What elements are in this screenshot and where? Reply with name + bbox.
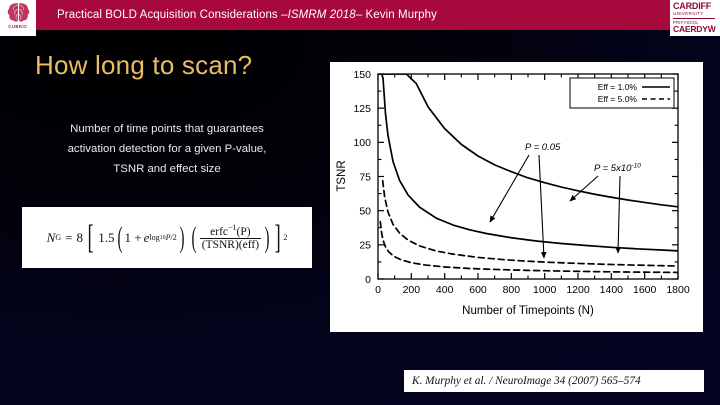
header-title: Practical BOLD Acquisition Consideration… bbox=[57, 0, 437, 30]
eq-frac-denominator: (TSNR)(eff) bbox=[200, 238, 261, 251]
equation-ng: NG = 8 [ 1.5 ( 1 + elog10P/2 ) ( erfc−1(… bbox=[47, 224, 288, 251]
eq-lhs-sub: G bbox=[55, 233, 61, 242]
body-line-1: Number of time points that guarantees bbox=[22, 119, 312, 139]
formula-box: NG = 8 [ 1.5 ( 1 + elog10P/2 ) ( erfc−1(… bbox=[22, 207, 312, 268]
cardiff-line-university: UNIVERSITY bbox=[673, 11, 718, 17]
x-tick-label: 1400 bbox=[600, 284, 624, 296]
legend-label-eff-5: Eff = 5.0% bbox=[598, 94, 638, 104]
x-tick-label: 1200 bbox=[566, 284, 590, 296]
eq-coef-inner: 1.5 bbox=[98, 230, 114, 246]
eq-exp-div2: /2 bbox=[171, 233, 177, 242]
eq-coef-outer: 8 bbox=[76, 230, 83, 246]
eq-one-plus: 1 + bbox=[125, 230, 142, 246]
y-tick-label: 100 bbox=[353, 137, 371, 149]
annotation-p-0-05: P = 0.05 bbox=[525, 142, 561, 153]
y-tick-label: 25 bbox=[359, 240, 371, 252]
cardiff-line-cardiff: CARDIFF bbox=[673, 2, 718, 11]
x-tick-label: 800 bbox=[503, 284, 521, 296]
figure-panel: 020040060080010001200140016001800 025507… bbox=[330, 62, 703, 332]
x-tick-label: 1600 bbox=[633, 284, 657, 296]
eq-outer-power: 2 bbox=[283, 233, 287, 242]
page-title: How long to scan? bbox=[35, 50, 252, 81]
body-line-2: activation detection for a given P-value… bbox=[22, 139, 312, 159]
y-tick-label: 125 bbox=[353, 103, 371, 115]
x-tick-label: 200 bbox=[403, 284, 421, 296]
eq-lhs-var: N bbox=[47, 230, 56, 246]
eq-erfc: erfc bbox=[210, 226, 228, 238]
eq-frac-numerator: erfc−1(P) bbox=[208, 224, 252, 238]
cubric-wordmark: CUBRIC bbox=[8, 24, 27, 29]
y-tick-label: 75 bbox=[359, 171, 371, 183]
citation-box: K. Murphy et al. / NeuroImage 34 (2007) … bbox=[404, 370, 704, 392]
header-title-part2: – Kevin Murphy bbox=[356, 9, 437, 21]
x-tick-label: 1800 bbox=[666, 284, 690, 296]
eq-exp-log: log bbox=[149, 233, 159, 242]
x-axis-title: Number of Timepoints (N) bbox=[462, 305, 594, 317]
body-line-3: TSNR and effect size bbox=[22, 159, 312, 179]
eq-erfc-inv: −1 bbox=[228, 223, 237, 232]
cardiff-university-logo: CARDIFF UNIVERSITY PRIFYSGOL CAERDYẆ bbox=[670, 0, 720, 36]
x-tick-label: 1000 bbox=[533, 284, 557, 296]
x-tick-label: 600 bbox=[469, 284, 487, 296]
x-axis-tick-labels: 020040060080010001200140016001800 bbox=[375, 284, 690, 296]
y-tick-label: 150 bbox=[353, 69, 371, 81]
y-tick-label: 0 bbox=[365, 274, 371, 286]
annotation-p-5e-10-text: P = 5x10 bbox=[594, 163, 632, 174]
header-title-part1: Practical BOLD Acquisition Consideration… bbox=[57, 9, 288, 21]
annotation-p-5e-10-exponent: -10 bbox=[631, 163, 641, 170]
y-tick-label: 50 bbox=[359, 205, 371, 217]
x-tick-label: 400 bbox=[436, 284, 454, 296]
eq-equals: = bbox=[65, 230, 72, 246]
chart-legend: Eff = 1.0% Eff = 5.0% bbox=[570, 78, 674, 108]
y-axis-tick-labels: 0255075100125150 bbox=[353, 69, 371, 286]
eq-erfc-arg: (P) bbox=[237, 226, 251, 238]
x-tick-label: 0 bbox=[375, 284, 381, 296]
eq-fraction: erfc−1(P) (TSNR)(eff) bbox=[200, 224, 261, 251]
legend-label-eff-1: Eff = 1.0% bbox=[598, 82, 638, 92]
slide-canvas: Practical BOLD Acquisition Consideration… bbox=[0, 0, 720, 405]
cardiff-line-caerdydd: CAERDYẆ bbox=[673, 25, 718, 34]
y-axis-title: TSNR bbox=[336, 160, 348, 191]
header-title-conference: ISMRM 2018 bbox=[288, 9, 356, 21]
tsnr-vs-timepoints-chart: 020040060080010001200140016001800 025507… bbox=[330, 62, 703, 332]
body-paragraph: Number of time points that guarantees ac… bbox=[22, 119, 312, 179]
citation-text: K. Murphy et al. / NeuroImage 34 (2007) … bbox=[412, 375, 641, 387]
cubric-logo: CUBRIC bbox=[0, 0, 36, 36]
brain-icon bbox=[6, 2, 31, 23]
cardiff-logo-divider bbox=[673, 18, 715, 19]
